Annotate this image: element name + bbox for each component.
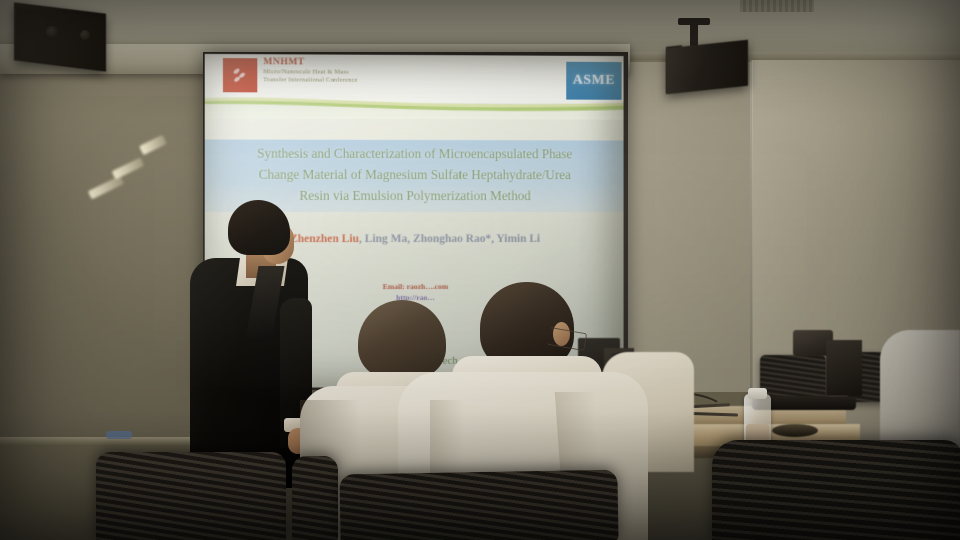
mnhmt-name-line2: Transfer International Conference <box>263 76 357 84</box>
ceiling-vent <box>740 0 814 12</box>
mnhmt-wordmark: MNHMT Micro/Nanoscale Heat & Mass Transf… <box>263 57 357 84</box>
slide-authors-rest: , Ling Ma, Zhonghao Rao*, Yimin Li <box>359 233 540 245</box>
mnhmt-name-line1: Micro/Nanoscale Heat & Mass <box>263 68 357 76</box>
slide-title-line1: Synthesis and Characterization of Microe… <box>215 143 614 165</box>
foreground-chair-back <box>339 470 618 540</box>
speaker-cone-icon <box>80 30 90 40</box>
whiteboard-marker <box>106 431 132 439</box>
slide-wave-graphic <box>205 92 624 119</box>
empty-chair-back <box>760 355 826 401</box>
conference-room-photo: MNHMT Micro/Nanoscale Heat & Mass Transf… <box>0 0 960 540</box>
mid-wall-panel <box>620 62 755 392</box>
foreground-chair-back <box>292 456 338 540</box>
ceiling-speaker-left-grille <box>16 7 104 70</box>
slide-title: Synthesis and Characterization of Microe… <box>215 143 614 207</box>
whiteboard-marker-tray <box>0 437 210 446</box>
table-cable-grommet <box>772 424 818 437</box>
slide-title-line3: Resin via Emulsion Polymerization Method <box>215 185 614 206</box>
speaker-mount-pole <box>690 22 698 46</box>
wall-corner-edge <box>750 30 753 450</box>
water-bottle-cap <box>748 388 767 399</box>
foreground-chair-back <box>712 440 960 540</box>
slide-author-presenting: Zhenzhen Liu <box>290 233 359 245</box>
mnhmt-flame-icon <box>223 58 257 92</box>
mnhmt-acronym: MNHMT <box>263 57 357 68</box>
foreground-chair-back <box>96 452 286 540</box>
whiteboard <box>0 96 205 441</box>
attendee-left-head <box>358 300 446 378</box>
av-equipment-unit <box>826 340 862 396</box>
asme-logo-text: ASME <box>573 73 615 89</box>
speaker-cone-icon <box>46 26 58 38</box>
ceiling-speaker-right <box>666 40 748 95</box>
slide-title-line2: Change Material of Magnesium Sulfate Hep… <box>215 164 614 186</box>
